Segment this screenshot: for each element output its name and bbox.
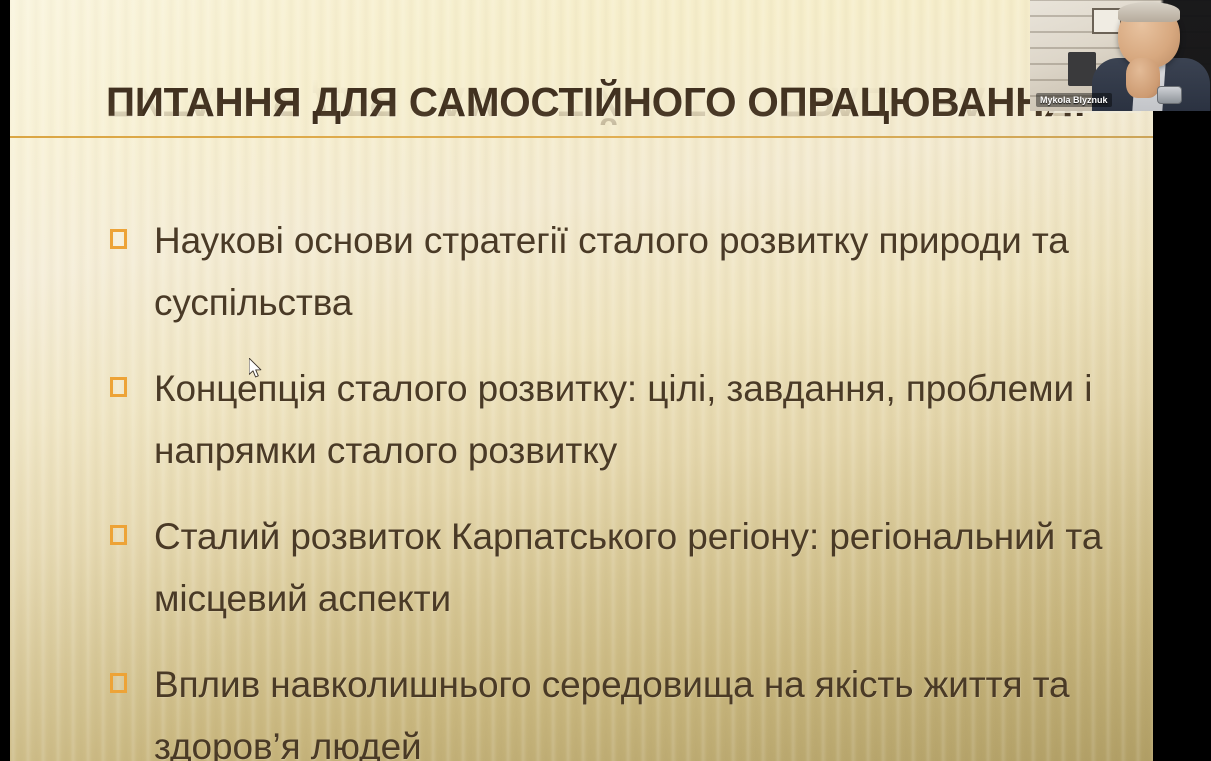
square-outline-bullet-icon — [110, 525, 127, 545]
letterbox-left-bar — [0, 0, 10, 761]
list-item: Наукові основи стратегії сталого розвитк… — [106, 210, 1136, 334]
bullet-list: Наукові основи стратегії сталого розвитк… — [106, 210, 1136, 761]
participant-video-tile[interactable]: Mykola Blyznuk — [1030, 0, 1211, 111]
square-outline-bullet-icon — [110, 673, 127, 693]
list-item-label: Концепція сталого розвитку: цілі, завдан… — [154, 368, 1092, 471]
list-item: Вплив навколишнього середовища на якість… — [106, 654, 1136, 761]
square-outline-bullet-icon — [110, 229, 127, 249]
screen: ПИТАННЯ ДЛЯ САМОСТІЙНОГО ОПРАЦЮВАННЯ: ПИ… — [0, 0, 1211, 761]
participant-wristwatch — [1157, 86, 1182, 104]
list-item: Сталий розвиток Карпатського регіону: ре… — [106, 506, 1136, 630]
presentation-slide: ПИТАННЯ ДЛЯ САМОСТІЙНОГО ОПРАЦЮВАННЯ: ПИ… — [10, 0, 1153, 761]
list-item-label: Сталий розвиток Карпатського регіону: ре… — [154, 516, 1102, 619]
list-item-label: Наукові основи стратегії сталого розвитк… — [154, 220, 1069, 323]
title-divider-rule — [10, 136, 1153, 138]
participant-name-label: Mykola Blyznuk — [1036, 93, 1112, 107]
square-outline-bullet-icon — [110, 377, 127, 397]
participant-hand — [1126, 58, 1160, 98]
participant-hair — [1118, 2, 1180, 22]
list-item: Концепція сталого розвитку: цілі, завдан… — [106, 358, 1136, 482]
page-title: ПИТАННЯ ДЛЯ САМОСТІЙНОГО ОПРАЦЮВАННЯ: — [106, 78, 1086, 126]
letterbox-right-bar — [1153, 0, 1211, 761]
list-item-label: Вплив навколишнього середовища на якість… — [154, 664, 1070, 761]
